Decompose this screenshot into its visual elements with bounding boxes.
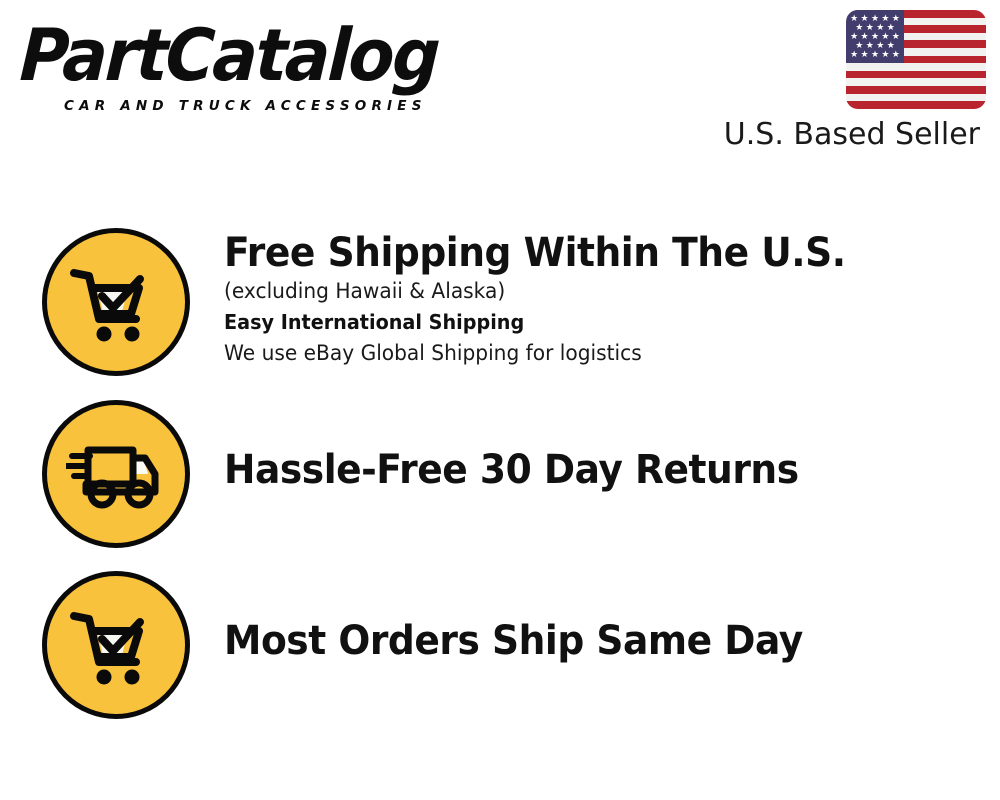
feature-title: Most Orders Ship Same Day [224, 618, 953, 664]
us-based-seller-badge: ★★★★★ ★★★★ ★★★★★ ★★★★ ★★★★★ U.S. Based S… [706, 10, 986, 152]
brand-logo[interactable]: PartCatalog CAR AND TRUCK ACCESSORIES [22, 18, 492, 118]
flag-canton: ★★★★★ ★★★★ ★★★★★ ★★★★ ★★★★★ [846, 10, 904, 63]
us-based-seller-label: U.S. Based Seller [706, 118, 980, 152]
feature-subtitle-strong: Easy International Shipping [224, 306, 969, 338]
brand-tagline: CAR AND TRUCK ACCESSORIES [64, 98, 427, 114]
feature-title: Free Shipping Within The U.S. [224, 230, 953, 276]
feature-text-block: Hassle-Free 30 Day Returns [192, 400, 1000, 493]
feature-row: Free Shipping Within The U.S. (excluding… [0, 228, 1000, 400]
cart-check-icon [42, 571, 192, 721]
feature-text-block: Free Shipping Within The U.S. (excluding… [192, 228, 1000, 368]
feature-row: Hassle-Free 30 Day Returns [0, 400, 1000, 571]
feature-row: Most Orders Ship Same Day [0, 571, 1000, 721]
feature-title: Hassle-Free 30 Day Returns [224, 447, 953, 493]
brand-wordmark: PartCatalog [18, 18, 459, 92]
delivery-truck-icon [42, 400, 192, 550]
us-flag-icon: ★★★★★ ★★★★ ★★★★★ ★★★★ ★★★★★ [846, 10, 986, 109]
feature-text-block: Most Orders Ship Same Day [192, 571, 1000, 664]
feature-list: Free Shipping Within The U.S. (excluding… [0, 228, 1000, 721]
cart-check-icon [42, 228, 192, 378]
feature-subtitle-secondary: We use eBay Global Shipping for logistic… [224, 338, 969, 368]
promo-banner: PartCatalog CAR AND TRUCK ACCESSORIES [0, 0, 1000, 800]
flag-star-row: ★★★★★ [849, 50, 901, 59]
feature-subtitle: (excluding Hawaii & Alaska) [224, 276, 969, 306]
